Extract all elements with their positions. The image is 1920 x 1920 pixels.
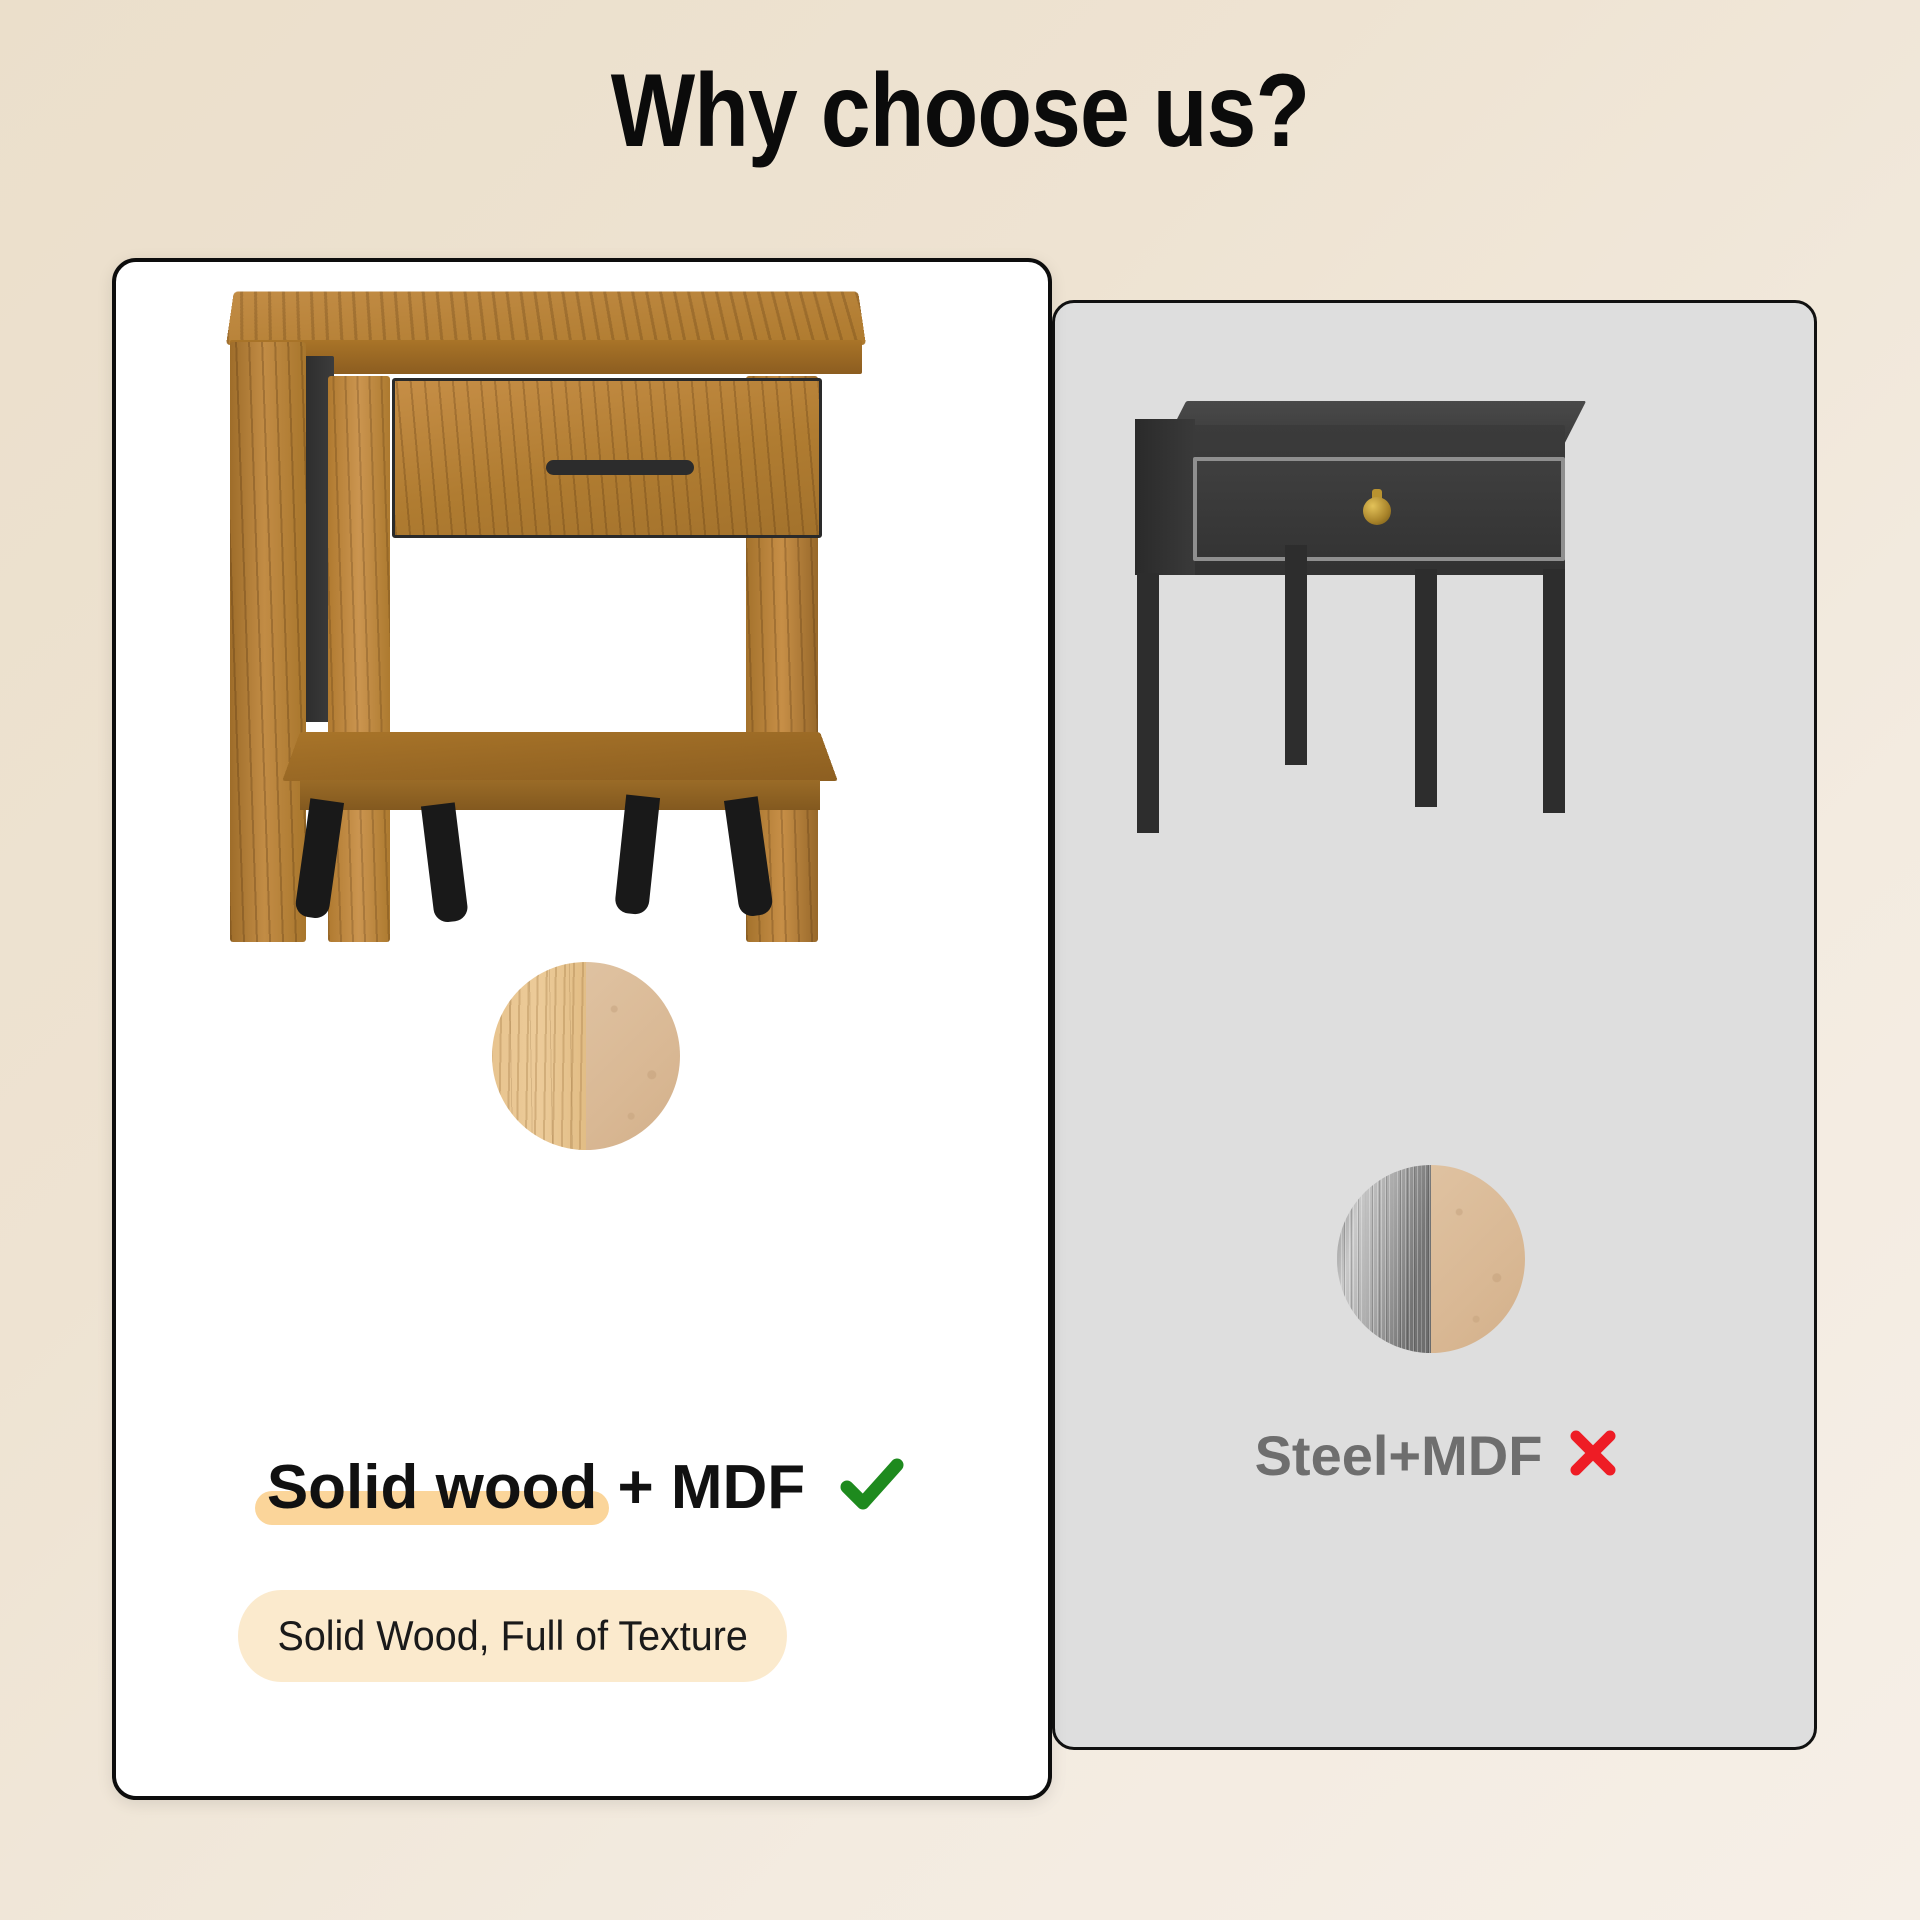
solid-wood-badge: Solid Wood, Full of Texture xyxy=(238,1590,787,1682)
nightstand-case-side xyxy=(1135,419,1195,575)
table-leg xyxy=(614,795,660,916)
nightstand-leg xyxy=(1415,569,1437,807)
solid-wood-highlight: Solid wood xyxy=(267,1452,598,1523)
steel-mdf-panel: Steel+MDF xyxy=(1052,300,1817,1750)
solid-wood-verdict-row: Solid wood + MDF xyxy=(116,1452,1056,1523)
nightstand-leg xyxy=(1285,545,1307,765)
nightstand-leg xyxy=(1137,573,1159,833)
table-drawer xyxy=(392,378,822,538)
table-inner-post xyxy=(328,376,390,942)
steel-mdf-swatch xyxy=(1337,1165,1525,1353)
table-side-panel-left xyxy=(230,342,306,942)
solid-wood-panel: Solid wood + MDF Solid Wood, Full of Tex… xyxy=(112,258,1052,1800)
mdf-swatch-half xyxy=(586,962,680,1150)
steel-nightstand-image xyxy=(1115,373,1675,933)
mdf-swatch-half xyxy=(1431,1165,1525,1353)
solid-wood-label: Solid wood xyxy=(267,1453,598,1522)
wood-mdf-swatch xyxy=(492,962,680,1150)
table-leg xyxy=(421,802,469,923)
page-title: Why choose us? xyxy=(134,52,1785,171)
drawer-handle-icon xyxy=(546,460,694,475)
cross-icon xyxy=(1566,1426,1620,1485)
solid-wood-swatch-half xyxy=(492,962,586,1150)
table-top-surface xyxy=(226,292,866,345)
table-lower-shelf xyxy=(282,732,838,781)
brass-knob-icon xyxy=(1363,497,1391,525)
check-icon xyxy=(839,1455,905,1520)
wood-side-table-image xyxy=(216,280,956,980)
plus-mdf-label: + MDF xyxy=(617,1452,805,1523)
steel-mdf-verdict-row: Steel+MDF xyxy=(1055,1423,1820,1488)
nightstand-leg xyxy=(1543,569,1565,813)
steel-swatch-half xyxy=(1337,1165,1431,1353)
steel-mdf-label: Steel+MDF xyxy=(1255,1423,1543,1488)
